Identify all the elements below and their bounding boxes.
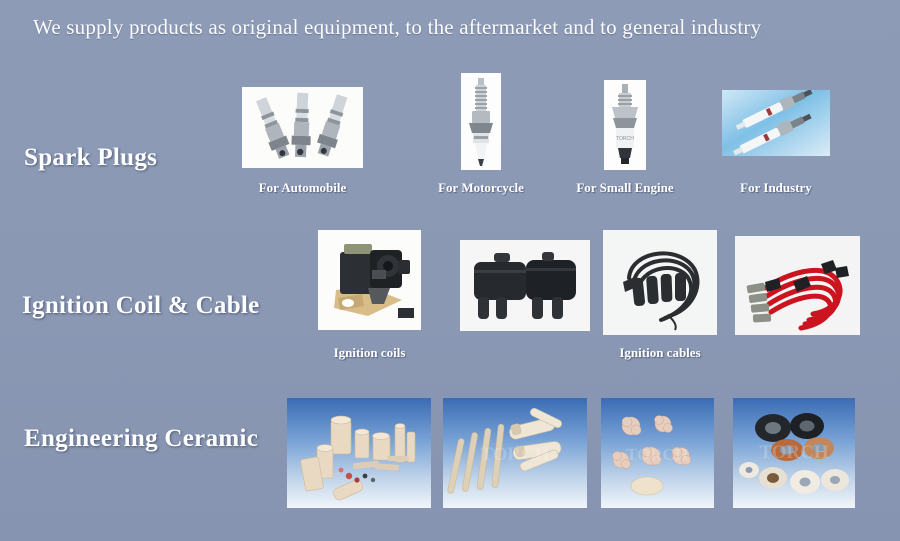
product-image-ceramic-granule-samples: TORCH xyxy=(601,398,714,508)
caption-for-industry: For Industry xyxy=(716,180,836,196)
svg-text:TORCH: TORCH xyxy=(616,136,634,142)
svg-text:TORCH: TORCH xyxy=(480,444,550,465)
product-image-spark-plugs-automobile xyxy=(242,87,363,168)
slide-canvas: We supply products as original equipment… xyxy=(0,0,900,541)
caption-for-motorcycle: For Motorcycle xyxy=(411,180,551,196)
row-label-ignition-coil-cable: Ignition Coil & Cable xyxy=(22,292,260,320)
product-image-ceramic-rods: TORCH xyxy=(443,398,587,508)
caption-for-automobile: For Automobile xyxy=(242,180,363,196)
page-title: We supply products as original equipment… xyxy=(33,12,813,42)
product-image-ignition-coil-pack xyxy=(460,240,590,331)
product-image-ignition-coil-assembly xyxy=(318,230,421,330)
product-image-ceramic-tubes-and-parts: TORCH xyxy=(287,398,431,508)
row-label-engineering-ceramic: Engineering Ceramic xyxy=(24,425,258,453)
row-label-spark-plugs: Spark Plugs xyxy=(24,144,157,172)
product-image-ignition-cables-red xyxy=(735,236,860,335)
product-image-spark-plugs-industry xyxy=(722,90,830,156)
product-image-spark-plug-motorcycle xyxy=(461,73,501,170)
caption-ignition-cables: Ignition cables xyxy=(600,345,720,361)
svg-text:TORCH: TORCH xyxy=(626,445,688,464)
caption-ignition-coils: Ignition coils xyxy=(318,345,421,361)
product-image-ceramic-rings-and-discs: TORCH xyxy=(733,398,855,508)
product-image-ignition-cables-black xyxy=(603,230,717,335)
caption-for-small-engine: For Small Engine xyxy=(555,180,695,196)
svg-text:TORCH: TORCH xyxy=(759,442,829,463)
product-image-spark-plug-small-engine: TORCH xyxy=(604,80,646,170)
